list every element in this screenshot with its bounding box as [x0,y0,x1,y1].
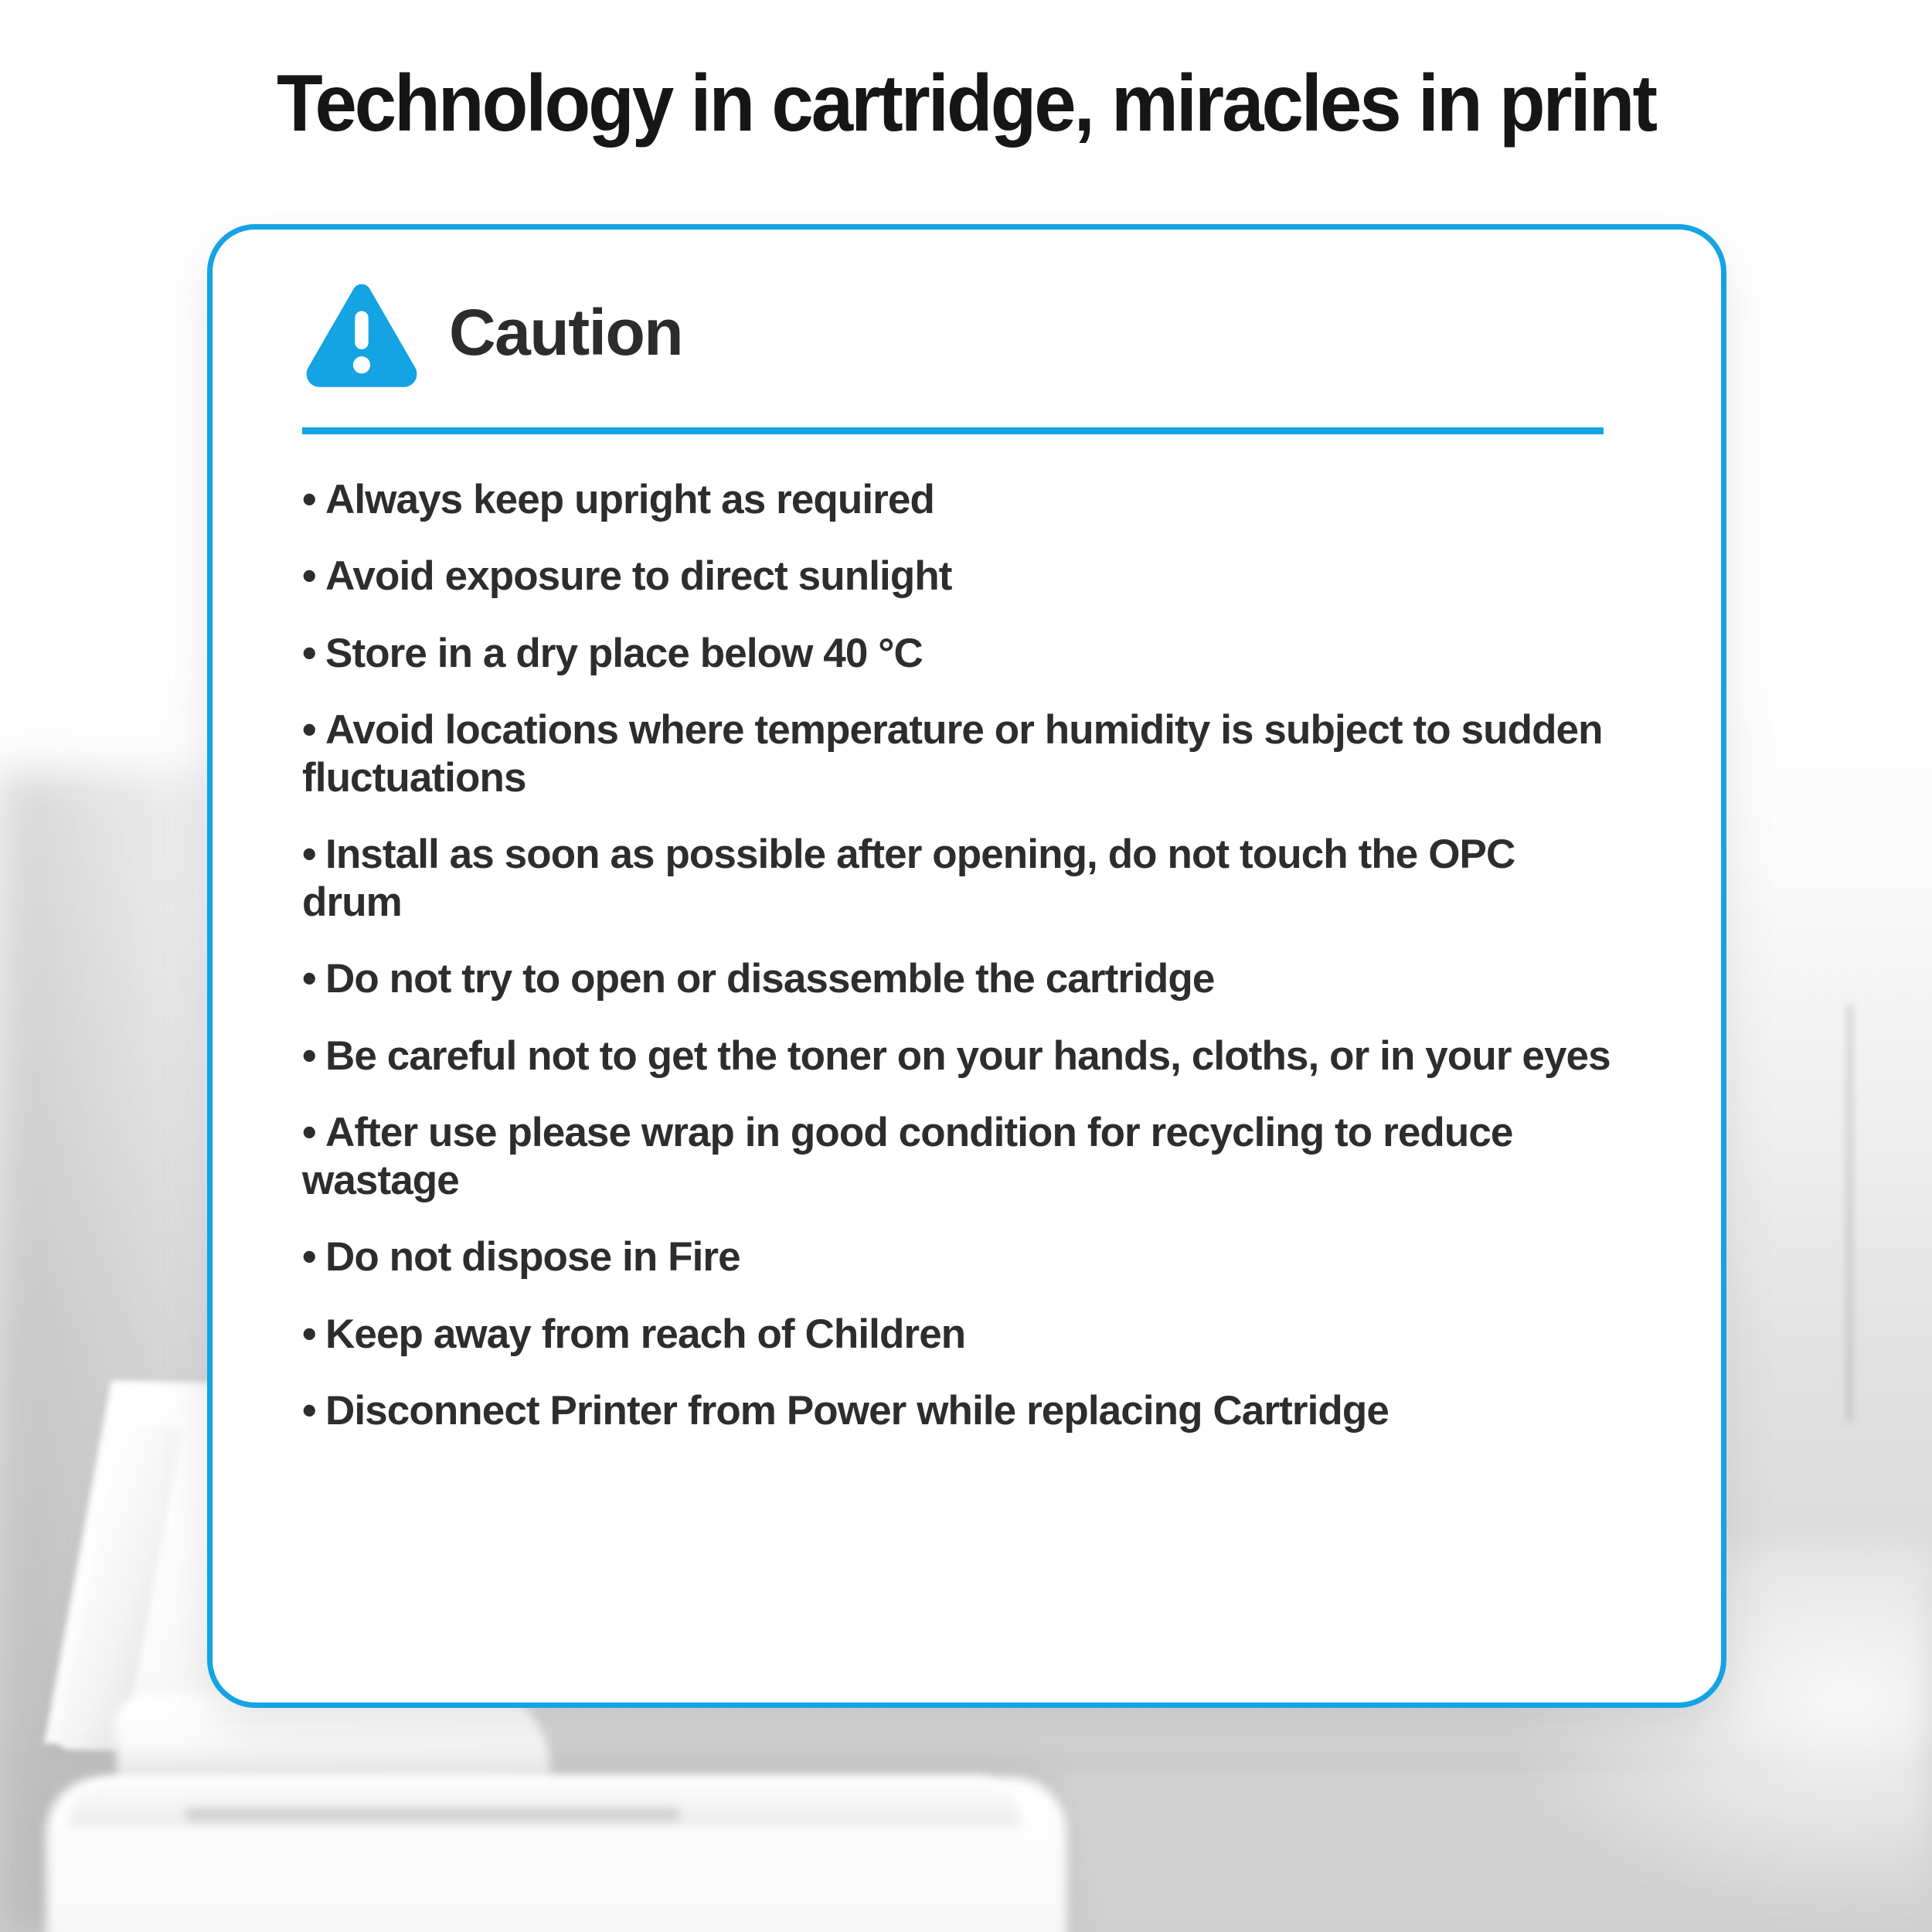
bullet-marker: • [302,476,325,523]
list-item-text: Install as soon as possible after openin… [302,832,1515,924]
list-item: •Do not try to open or disassemble the c… [302,955,1624,1002]
bullet-marker: • [302,1109,325,1156]
bullet-marker: • [302,1387,325,1434]
list-item: •Keep away from reach of Children [302,1311,1624,1358]
list-item: •Do not dispose in Fire [302,1233,1624,1281]
caution-label: Caution [449,295,682,370]
background-wall-seam [1847,1005,1852,1422]
page-title: Technology in cartridge, miracles in pri… [58,60,1874,147]
caution-list: •Always keep upright as required •Avoid … [302,476,1647,1435]
list-item-text: Always keep upright as required [325,477,934,522]
bullet-marker: • [302,630,325,677]
list-item: •After use please wrap in good condition… [302,1109,1624,1204]
list-item-text: Store in a dry place below 40 °C [325,631,923,676]
bullet-marker: • [302,1032,325,1080]
list-item: •Be careful not to get the toner on your… [302,1032,1624,1080]
list-item: •Avoid exposure to direct sunlight [302,553,1624,600]
bullet-marker: • [302,831,325,878]
bullet-marker: • [302,553,325,600]
list-item-text: Avoid locations where temperature or hum… [302,707,1603,800]
list-item-text: Avoid exposure to direct sunlight [325,553,952,599]
bullet-marker: • [302,955,325,1002]
list-item-text: After use please wrap in good condition … [302,1110,1513,1202]
list-item: •Avoid locations where temperature or hu… [302,706,1624,801]
list-item-text: Do not try to open or disassemble the ca… [325,956,1214,1002]
list-item-text: Be careful not to get the toner on your … [325,1033,1611,1079]
list-item: •Install as soon as possible after openi… [302,831,1624,926]
list-item-text: Keep away from reach of Children [325,1311,965,1357]
printer-lid-seam [185,1808,680,1821]
bullet-marker: • [302,1311,325,1358]
bullet-marker: • [302,706,325,753]
list-item: •Store in a dry place below 40 °C [302,630,1624,677]
caution-header: Caution [304,277,1647,393]
list-item: •Disconnect Printer from Power while rep… [302,1387,1624,1434]
list-item-text: Disconnect Printer from Power while repl… [325,1388,1389,1434]
warning-triangle-icon [304,277,420,393]
header-divider [302,427,1604,434]
list-item: •Always keep upright as required [302,476,1624,523]
caution-card: Caution •Always keep upright as required… [207,224,1726,1708]
bullet-marker: • [302,1233,325,1281]
list-item-text: Do not dispose in Fire [325,1234,740,1280]
